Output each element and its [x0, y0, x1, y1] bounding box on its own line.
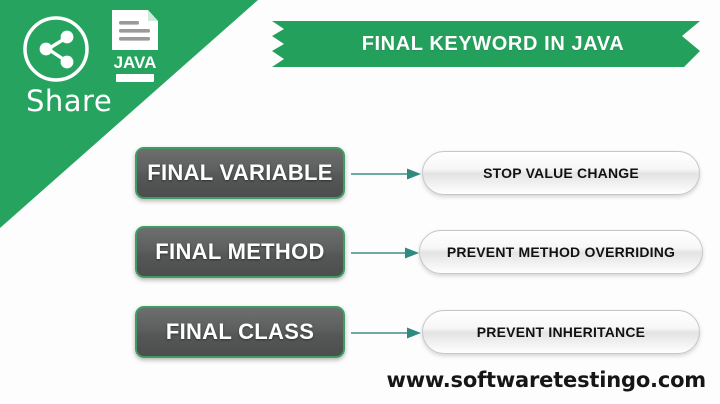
final-variable-box[interactable]: FINAL VARIABLE: [135, 147, 345, 199]
final-class-box[interactable]: FINAL CLASS: [135, 306, 345, 358]
final-method-box[interactable]: FINAL METHOD: [135, 226, 345, 278]
stop-value-change-label: STOP VALUE CHANGE: [483, 165, 639, 181]
final-variable-label: FINAL VARIABLE: [147, 160, 333, 186]
diagram-row: FINAL METHOD PREVENT METHOD OVERRIDING: [0, 226, 720, 286]
diagram-row: FINAL CLASS PREVENT INHERITANCE: [0, 306, 720, 366]
connector-arrow-icon: [351, 167, 421, 181]
prevent-method-overriding-label: PREVENT METHOD OVERRIDING: [447, 244, 675, 260]
share-icon: [21, 14, 91, 84]
prevent-method-overriding-pill[interactable]: PREVENT METHOD OVERRIDING: [419, 230, 703, 274]
infographic-canvas: JAVA Share FINAL KEYWORD IN JAVA FINAL V…: [0, 0, 720, 404]
final-method-label: FINAL METHOD: [155, 239, 324, 265]
share-label: Share: [26, 84, 112, 118]
final-class-label: FINAL CLASS: [166, 319, 314, 345]
connector-arrow-icon: [351, 246, 419, 260]
diagram-row: FINAL VARIABLE STOP VALUE CHANGE: [0, 147, 720, 207]
java-file-icon-label: JAVA: [114, 53, 157, 72]
page-title: FINAL KEYWORD IN JAVA: [272, 21, 700, 67]
prevent-inheritance-label: PREVENT INHERITANCE: [477, 324, 645, 340]
footer-website-url: www.softwaretestingo.com: [387, 368, 706, 392]
prevent-inheritance-pill[interactable]: PREVENT INHERITANCE: [422, 310, 700, 354]
java-file-icon: JAVA: [104, 8, 166, 88]
stop-value-change-pill[interactable]: STOP VALUE CHANGE: [422, 151, 700, 195]
connector-arrow-icon: [351, 326, 421, 340]
